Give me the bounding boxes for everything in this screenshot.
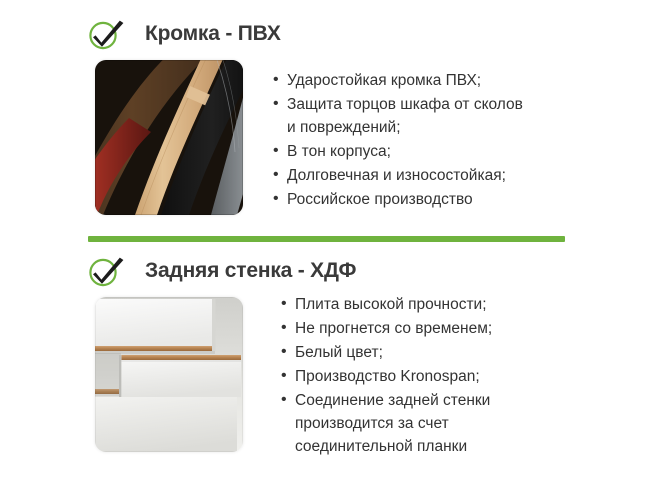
section-divider bbox=[88, 236, 565, 242]
page-title-back-panel: Задняя стенка - ХДФ bbox=[145, 259, 356, 282]
hdf-back-panel-photo bbox=[95, 297, 243, 452]
section-heading-row: Кромка - ПВХ bbox=[0, 14, 652, 54]
check-circle-icon bbox=[88, 17, 126, 51]
list-item: Российское производство bbox=[273, 188, 523, 211]
feature-sections-page: Кромка - ПВХ bbox=[0, 0, 652, 500]
feature-list-back-panel: Плита высокой прочности; Не прогнется со… bbox=[281, 293, 492, 459]
section-body-row: Плита высокой прочности; Не прогнется со… bbox=[0, 297, 652, 457]
list-item: Ударостойкая кромка ПВХ; bbox=[273, 69, 523, 92]
check-circle-icon bbox=[88, 254, 126, 288]
pvc-edge-banding-photo bbox=[95, 60, 243, 215]
list-item: Белый цвет; bbox=[281, 341, 492, 364]
section-heading-row: Задняя стенка - ХДФ bbox=[0, 251, 652, 291]
list-item: В тон корпуса; bbox=[273, 140, 523, 163]
list-item: Долговечная и износостойкая; bbox=[273, 164, 523, 187]
list-item: Защита торцов шкафа от сколов и поврежде… bbox=[273, 93, 523, 139]
page-title-edge-banding: Кромка - ПВХ bbox=[145, 22, 281, 45]
list-item: Производство Kronospan; bbox=[281, 365, 492, 388]
list-item: Плита высокой прочности; bbox=[281, 293, 492, 316]
feature-list-edge-banding: Ударостойкая кромка ПВХ; Защита торцов ш… bbox=[273, 69, 523, 212]
section-body-row: Ударостойкая кромка ПВХ; Защита торцов ш… bbox=[0, 60, 652, 220]
section-back-panel: Задняя стенка - ХДФ bbox=[0, 251, 652, 457]
list-item: Не прогнется со временем; bbox=[281, 317, 492, 340]
list-item: Соединение задней стенки производится за… bbox=[281, 389, 492, 458]
section-edge-banding: Кромка - ПВХ bbox=[0, 14, 652, 220]
